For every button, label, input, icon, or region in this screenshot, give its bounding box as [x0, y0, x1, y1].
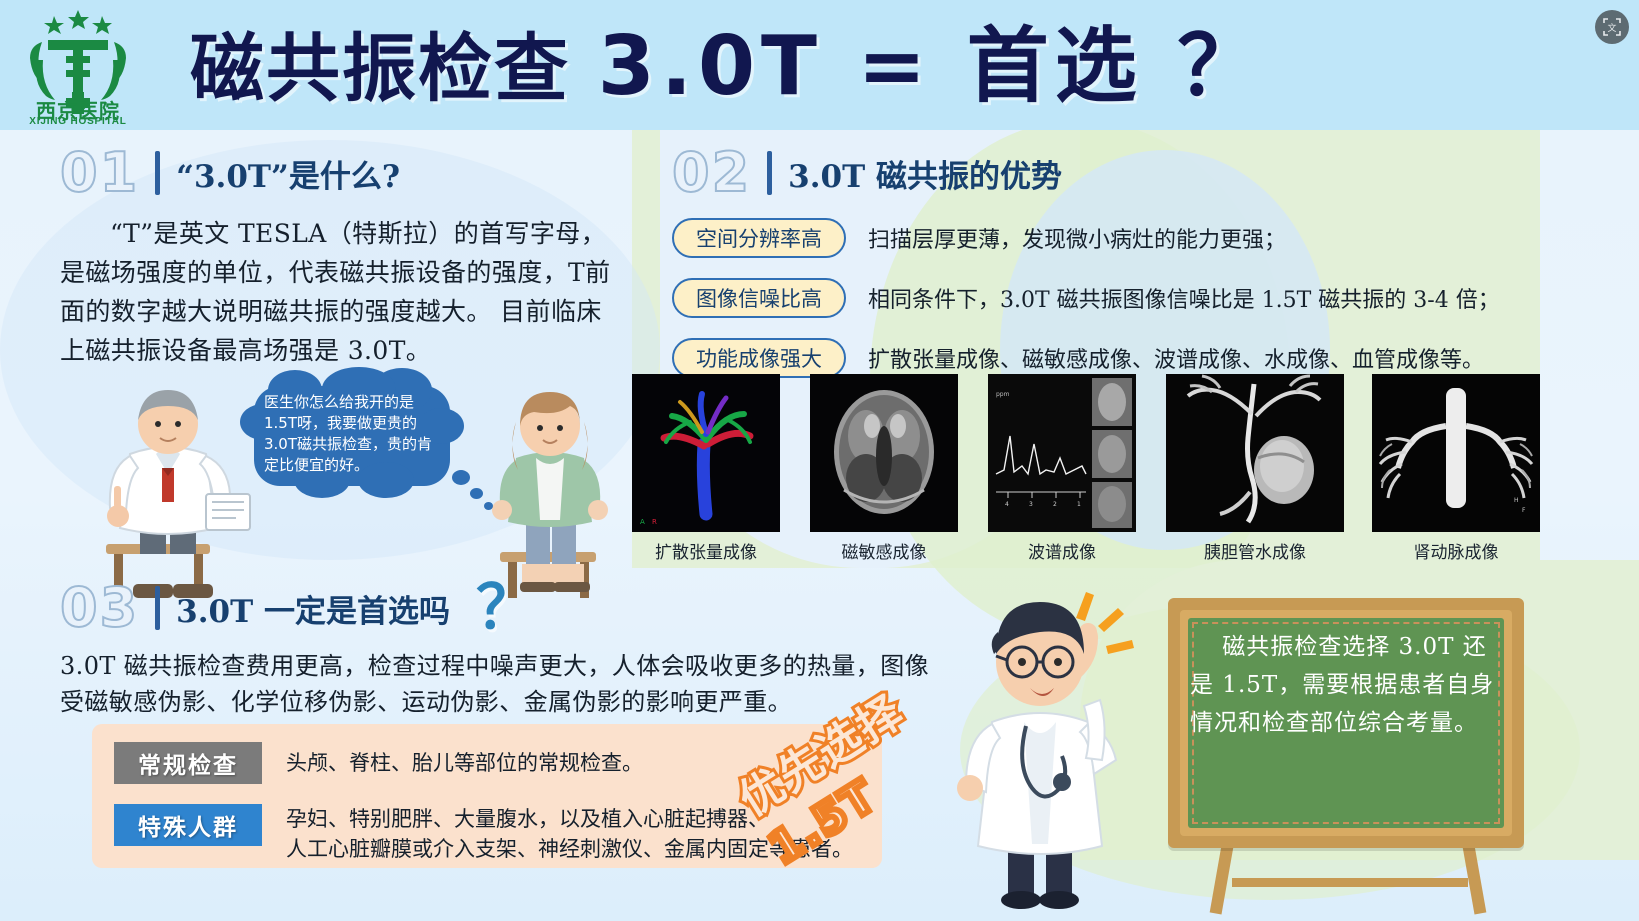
svg-text:R: R — [652, 518, 657, 526]
advantage-text: 扫描层厚更薄，发现微小病灶的能力更强； — [868, 222, 1286, 254]
patient-speech-text: 医生你怎么给我开的是1.5T呀，我要做更贵的3.0T磁共振检查，贵的肯定比便宜的… — [254, 392, 450, 476]
advantage-text: 相同条件下，3.0T 磁共振图像信噪比是 1.5T 磁共振的 3-4 倍； — [868, 282, 1500, 314]
easel-crossbar — [1232, 878, 1468, 887]
mri-image-item: 胰胆管水成像 — [1166, 374, 1344, 563]
section-03-number: 03 — [60, 581, 139, 635]
swi-brain-axial-image — [810, 374, 958, 532]
chalkboard-frame: 磁共振检查选择 3.0T 还是 1.5T，需要根据患者自身情况和检查部位综合考量… — [1168, 598, 1524, 848]
mri-caption: 胰胆管水成像 — [1166, 538, 1344, 563]
section-03-body: 3.0T 磁共振检查费用更高，检查过程中噪声更大，人体会吸收更多的热量，图像受磁… — [60, 648, 950, 720]
section-01-body: “T”是英文 TESLA（特斯拉）的首写字母，是磁场强度的单位，代表磁共振设备的… — [60, 214, 620, 370]
section-01-title: “3.0T”是什么? — [176, 151, 400, 196]
table-row-text: 头颅、脊柱、胎儿等部位的常规检查。 — [286, 742, 643, 778]
hospital-logo-en: XIJING HOSPITAL — [14, 116, 142, 127]
table-row: 常规检查 头颅、脊柱、胎儿等部位的常规检查。 — [114, 742, 643, 784]
section-03-divider — [155, 586, 160, 630]
advantage-text: 扩散张量成像、磁敏感成像、波谱成像、水成像、血管成像等。 — [868, 342, 1484, 374]
mri-caption: 肾动脉成像 — [1372, 538, 1540, 563]
mri-image-item: A R 扩散张量成像 — [632, 374, 780, 563]
section-03: 03 3.0T 一定是首选吗 ？ 3.0T 磁共振检查费用更高，检查过程中噪声更… — [60, 578, 950, 720]
mri-caption: 磁敏感成像 — [810, 538, 958, 563]
poster-root: 西京医院 XIJING HOSPITAL 磁共振检查 3.0T = 首选 ？ 文… — [0, 0, 1639, 921]
section-01: 01 “3.0T”是什么? “T”是英文 TESLA（特斯拉）的首写字母，是磁场… — [60, 146, 620, 370]
advantage-row: 空间分辨率高 扫描层厚更薄，发现微小病灶的能力更强； — [672, 218, 1572, 258]
mrcp-image — [1166, 374, 1344, 532]
doctor-figure — [78, 368, 268, 600]
mri-caption: 波谱成像 — [988, 538, 1136, 563]
table-row-tag: 特殊人群 — [114, 804, 262, 846]
speech-bubble-tail-3 — [484, 502, 493, 510]
svg-text:H: H — [1514, 497, 1519, 504]
renal-mra-image: H F — [1372, 374, 1540, 532]
svg-text:4: 4 — [1005, 501, 1009, 508]
advantage-tag: 功能成像强大 — [672, 338, 846, 378]
section-02-title: 3.0T 磁共振的优势 — [788, 151, 1062, 196]
table-row: 特殊人群 孕妇、特别肥胖、大量腹水，以及植入心脏起搏器、 人工心脏瓣膜或介入支架… — [114, 804, 853, 864]
speech-bubble-tail-2 — [470, 488, 483, 499]
section-03-title: 3.0T 一定是首选吗 — [176, 586, 450, 631]
speech-bubble-tail-1 — [452, 470, 470, 485]
question-mark-icon: ？ — [476, 578, 536, 638]
page-title-part2: 3.0T = 首选 ？ — [598, 19, 1266, 114]
poster-header: 西京医院 XIJING HOSPITAL 磁共振检查 3.0T = 首选 ？ 文 — [0, 0, 1639, 130]
mri-caption: 扩散张量成像 — [632, 538, 780, 563]
mr-spectroscopy-image: 43 21 ppm — [988, 374, 1136, 532]
table-row-tag: 常规检查 — [114, 742, 262, 784]
page-title-part1: 磁共振检查 — [190, 26, 570, 112]
svg-text:F: F — [1522, 507, 1526, 514]
section-02-divider — [767, 151, 772, 195]
svg-text:A: A — [640, 518, 645, 526]
advantage-row: 图像信噪比高 相同条件下，3.0T 磁共振图像信噪比是 1.5T 磁共振的 3-… — [672, 278, 1572, 318]
mri-image-strip: A R 扩散张量成像 — [632, 374, 1540, 564]
svg-text:文: 文 — [1607, 22, 1616, 34]
svg-text:1: 1 — [1077, 501, 1081, 508]
mri-image-item: H F 肾动脉成像 — [1372, 374, 1540, 563]
svg-text:3: 3 — [1029, 501, 1033, 508]
dti-tractography-image: A R — [632, 374, 780, 532]
section-02-number: 02 — [672, 146, 751, 200]
mri-image-item: 43 21 ppm 波谱成像 — [988, 374, 1136, 563]
svg-text:ppm: ppm — [996, 391, 1010, 398]
section-01-number: 01 — [60, 146, 139, 200]
page-title: 磁共振检查 3.0T = 首选 ？ — [190, 18, 1390, 116]
section-02: 02 3.0T 磁共振的优势 空间分辨率高 扫描层厚更薄，发现微小病灶的能力更强… — [672, 146, 1572, 378]
section-03-head: 03 3.0T 一定是首选吗 ？ — [60, 578, 950, 638]
chalkboard-text: 磁共振检查选择 3.0T 还是 1.5T，需要根据患者自身情况和检查部位综合考量… — [1190, 628, 1502, 818]
translate-scan-icon[interactable]: 文 — [1595, 10, 1629, 44]
mri-image-item: 磁敏感成像 — [810, 374, 958, 563]
advantage-tag: 空间分辨率高 — [672, 218, 846, 258]
svg-text:2: 2 — [1053, 501, 1057, 508]
section-01-divider — [155, 151, 160, 195]
section-01-head: 01 “3.0T”是什么? — [60, 146, 620, 200]
patient-figure — [470, 378, 630, 600]
section-02-head: 02 3.0T 磁共振的优势 — [672, 146, 1572, 200]
advantage-row: 功能成像强大 扩散张量成像、磁敏感成像、波谱成像、水成像、血管成像等。 — [672, 338, 1572, 378]
advantage-tag: 图像信噪比高 — [672, 278, 846, 318]
